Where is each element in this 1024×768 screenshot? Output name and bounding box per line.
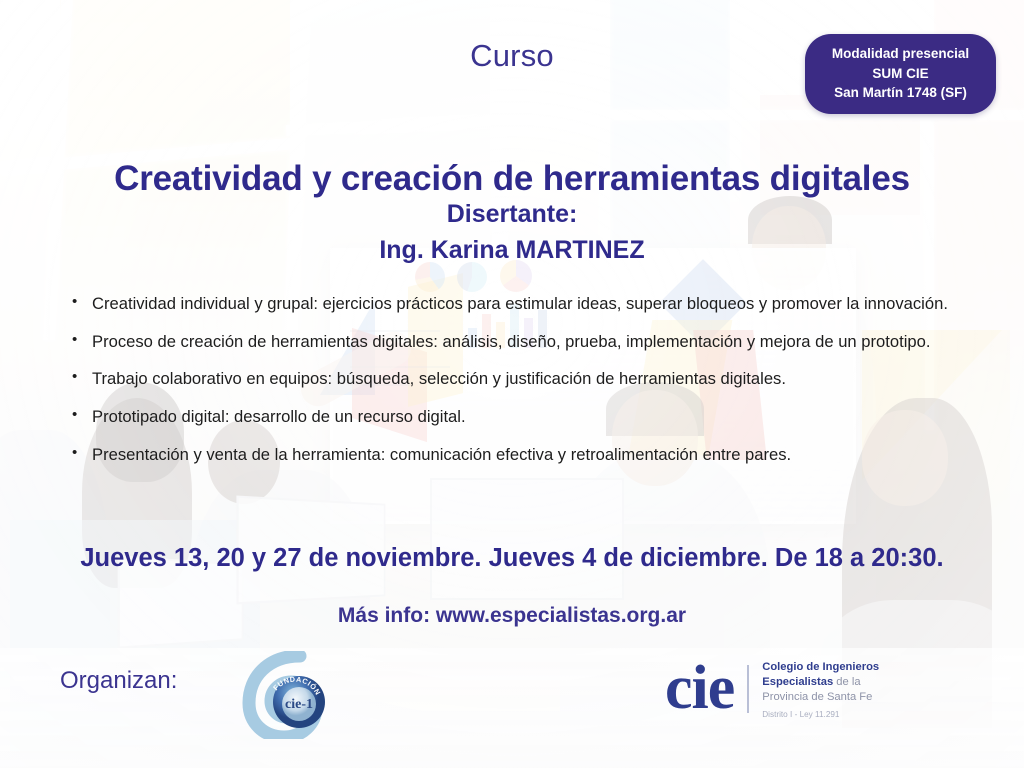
badge-line-3: San Martín 1748 (SF)	[813, 83, 988, 103]
speaker-label: Disertante:	[0, 198, 1024, 232]
cie-divider	[747, 665, 749, 713]
list-item: Trabajo colaborativo en equipos: búsqued…	[92, 363, 976, 396]
flyer-canvas: Curso Modalidad presencial SUM CIE San M…	[0, 0, 1024, 768]
speaker-block: Disertante: Ing. Karina MARTINEZ	[0, 198, 1024, 268]
cie-line-1: Colegio de Ingenieros	[762, 660, 879, 675]
more-info-link[interactable]: Más info: www.especialistas.org.ar	[0, 604, 1024, 628]
list-item: Creatividad individual y grupal: ejercic…	[92, 288, 976, 321]
list-item: Proceso de creación de herramientas digi…	[92, 326, 976, 359]
cie-subtext: Colegio de Ingenieros Especialistas de l…	[762, 658, 879, 720]
fundacion-cie1-logo: FUNDACIÓN cie-1	[242, 651, 336, 739]
badge-line-1: Modalidad presencial	[813, 44, 988, 64]
modality-badge: Modalidad presencial SUM CIE San Martín …	[805, 34, 996, 114]
cie-line-4: Distrito I - Ley 11.291	[762, 706, 879, 720]
cie-line-2-strong: Especialistas	[762, 676, 833, 688]
cie-line-2-rest: de la	[833, 676, 860, 688]
fundacion-center-text: cie-1	[285, 697, 313, 712]
list-item: Prototipado digital: desarrollo de un re…	[92, 401, 976, 434]
badge-line-2: SUM CIE	[813, 64, 988, 84]
schedule-text: Jueves 13, 20 y 27 de noviembre. Jueves …	[0, 544, 1024, 573]
course-title: Creatividad y creación de herramientas d…	[0, 159, 1024, 199]
list-item: Presentación y venta de la herramienta: …	[92, 439, 976, 472]
cie-wordmark: cie	[665, 662, 734, 715]
cie-logo: cie Colegio de Ingenieros Especialistas …	[665, 658, 879, 720]
organizers-label: Organizan:	[60, 667, 177, 695]
speaker-name: Ing. Karina MARTINEZ	[0, 232, 1024, 268]
cie-line-3: Provincia de Santa Fe	[762, 690, 879, 705]
topics-list: Creatividad individual y grupal: ejercic…	[62, 288, 976, 476]
